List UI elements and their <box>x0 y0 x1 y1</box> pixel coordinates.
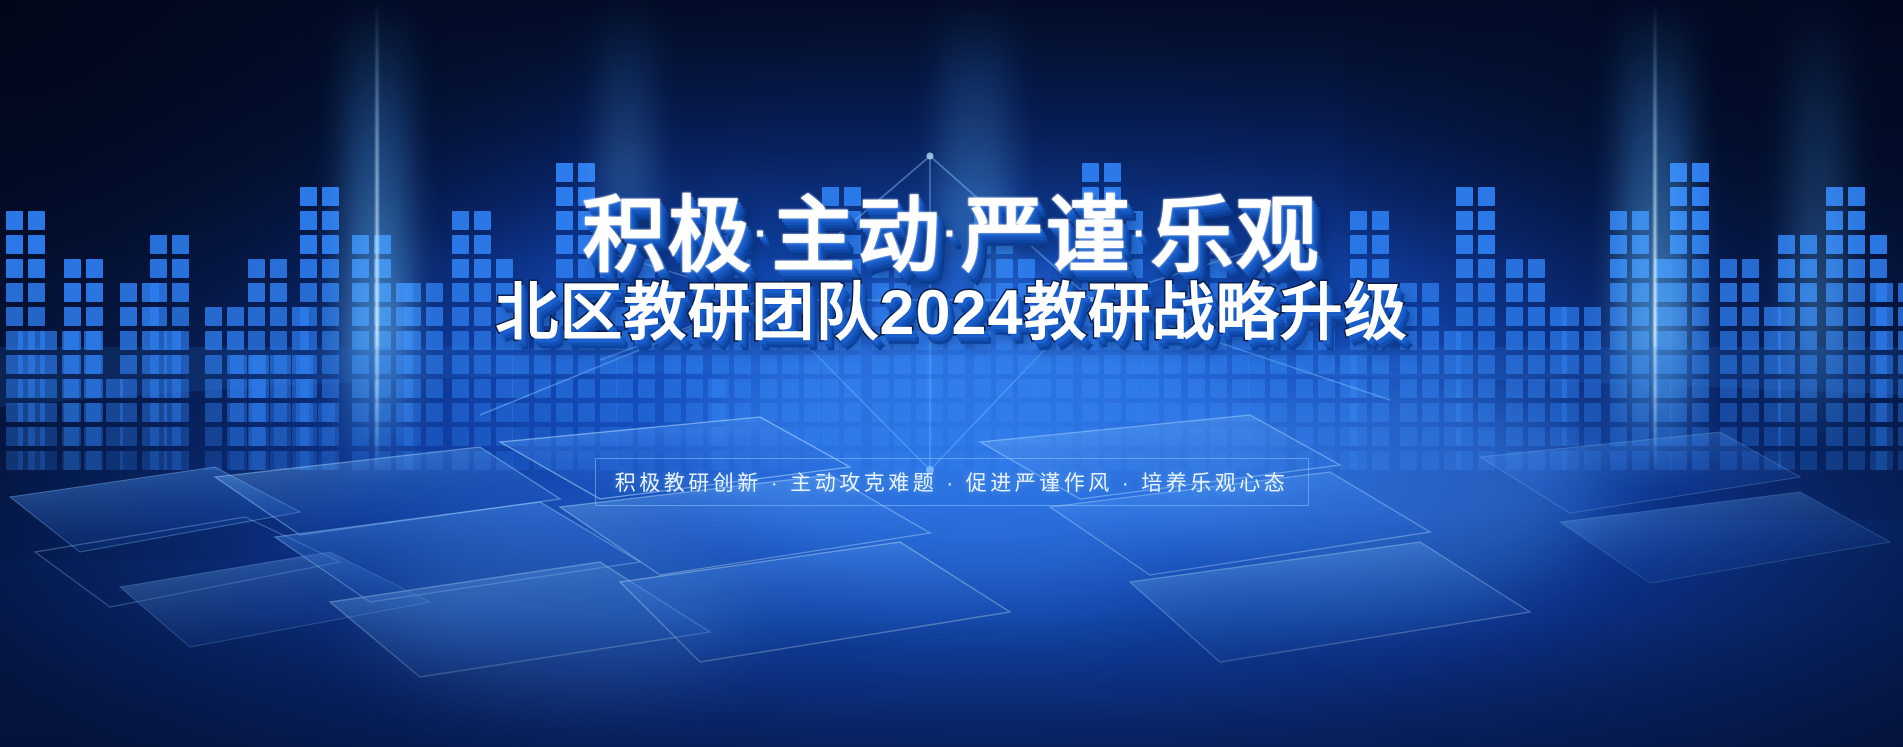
banner-subtitle: 北区教研团队2024教研战略升级 <box>0 262 1903 353</box>
tagline-item-3: 促进严谨作风 <box>966 472 1113 495</box>
tagline-item-4: 培养乐观心态 <box>1141 472 1288 495</box>
tagline-separator-3: · <box>1113 472 1142 495</box>
banner-canvas: 积极·主动·严谨·乐观 北区教研团队2024教研战略升级 积极教研创新·主动攻克… <box>0 0 1903 747</box>
tagline-frame: 积极教研创新·主动攻克难题·促进严谨作风·培养乐观心态 <box>595 458 1309 506</box>
banner-content: 积极·主动·严谨·乐观 北区教研团队2024教研战略升级 积极教研创新·主动攻克… <box>0 0 1903 747</box>
tagline-separator-2: · <box>937 472 966 495</box>
title-separator-1: · <box>753 212 772 256</box>
title-separator-2: · <box>942 212 961 256</box>
tagline-item-1: 积极教研创新 <box>615 472 762 495</box>
tagline-text: 积极教研创新·主动攻克难题·促进严谨作风·培养乐观心态 <box>615 467 1289 497</box>
tagline-separator-1: · <box>762 472 791 495</box>
tagline-item-2: 主动攻克难题 <box>790 472 937 495</box>
title-separator-3: · <box>1131 212 1150 256</box>
